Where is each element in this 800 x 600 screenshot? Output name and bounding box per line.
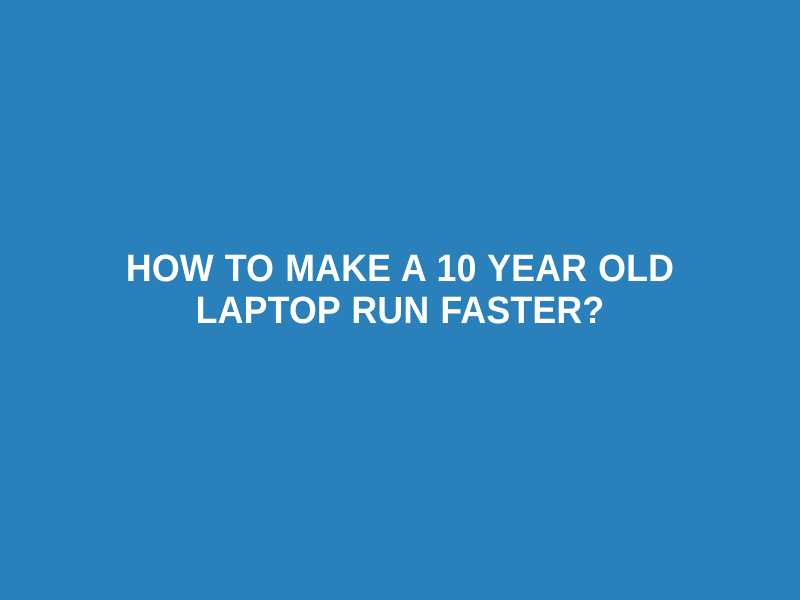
hero-title-block: HOW TO MAKE A 10 YEAR OLD LAPTOP RUN FAS… [80, 248, 720, 332]
page-title: HOW TO MAKE A 10 YEAR OLD LAPTOP RUN FAS… [99, 248, 701, 332]
hero-banner: HOW TO MAKE A 10 YEAR OLD LAPTOP RUN FAS… [0, 0, 800, 600]
